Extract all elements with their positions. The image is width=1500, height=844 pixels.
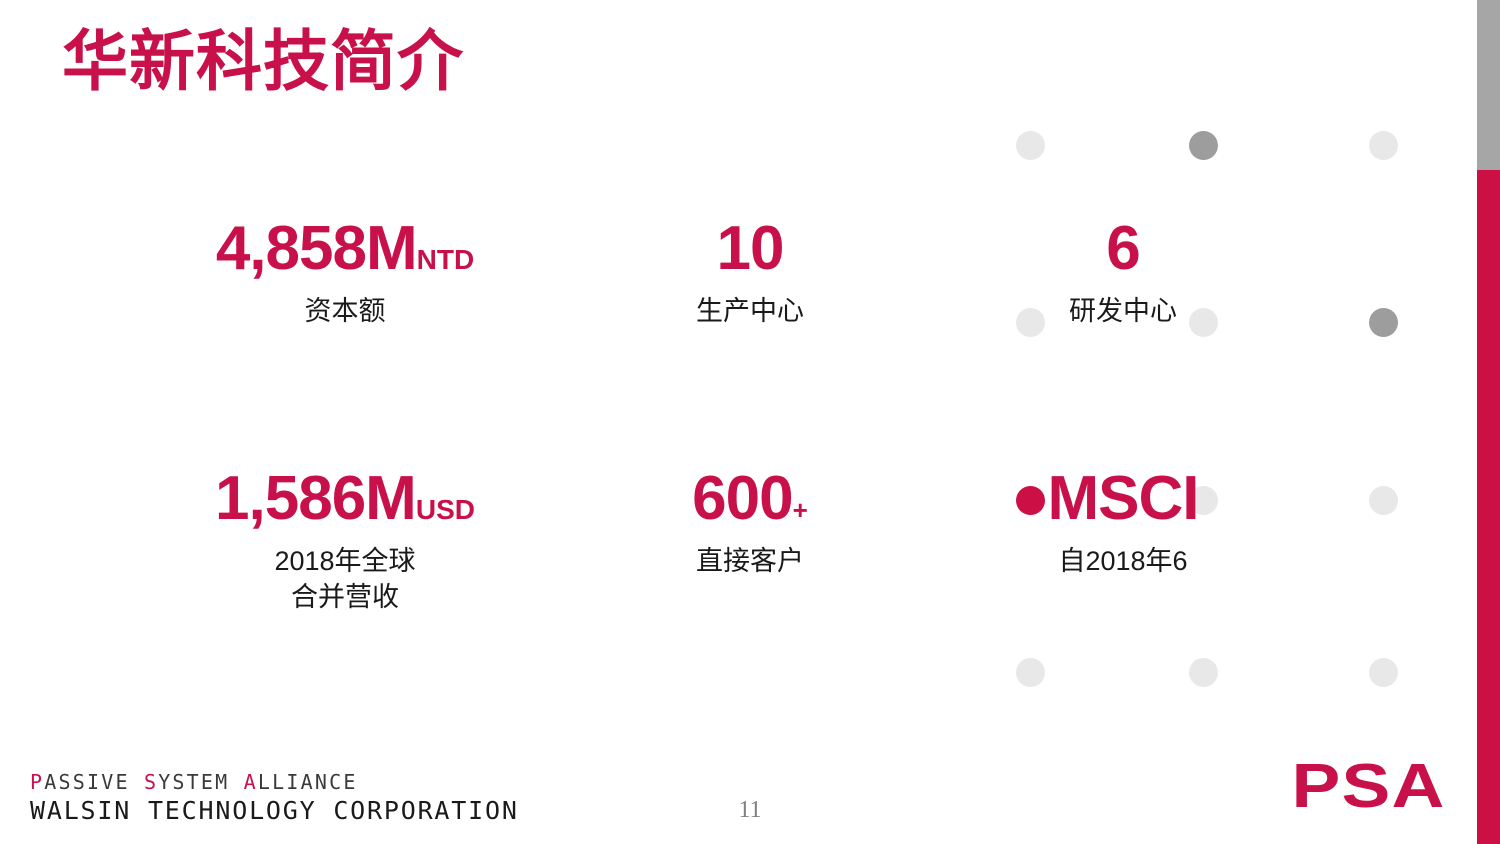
- stat-rd-value-line: 6: [958, 218, 1288, 280]
- footer-alliance-word: YSTEM: [158, 770, 243, 794]
- dot-r1-c3: [1369, 131, 1398, 160]
- stat-capital-label: 资本额: [180, 294, 510, 330]
- stat-capital-value: 4,858M: [216, 214, 417, 283]
- edge-bar-crimson: [1477, 170, 1500, 844]
- psa-logo: PSA: [1291, 756, 1445, 818]
- dot-r1-c1: [1016, 131, 1045, 160]
- msci-wordmark: MSCI: [1048, 464, 1199, 533]
- footer-alliance-initial: P: [30, 770, 44, 794]
- stat-direct-customers: 600+ 直接客户: [585, 468, 915, 580]
- page-title: 华新科技简介: [62, 24, 464, 100]
- stat-rd-value: 6: [1106, 214, 1139, 283]
- stat-capital: 4,858MNTD 资本额: [180, 218, 510, 330]
- dot-r1-c2: [1189, 131, 1218, 160]
- footer-alliance-line: PASSIVE SYSTEM ALLIANCE: [30, 770, 519, 795]
- stat-rd-centers: 6 研发中心: [958, 218, 1288, 330]
- stat-global-revenue: 1,586MUSD 2018年全球 合并营收: [180, 468, 510, 615]
- slide-canvas: 华新科技简介 4,858MNTD 资本额 10 生产中心 6 研发中心 1,58…: [0, 0, 1500, 844]
- stat-plants-value-line: 10: [585, 218, 915, 280]
- dot-r4-c1: [1016, 658, 1045, 687]
- stat-production-centers: 10 生产中心: [585, 218, 915, 330]
- stat-plants-value: 10: [717, 214, 784, 283]
- stat-revenue-value: 1,586M: [215, 464, 416, 533]
- stat-revenue-unit: USD: [416, 494, 475, 525]
- stat-customers-value: 600: [692, 464, 792, 533]
- stat-capital-unit: NTD: [417, 244, 475, 275]
- footer-alliance-initial: S: [144, 770, 158, 794]
- edge-bar-gray: [1477, 0, 1500, 170]
- stat-revenue-value-line: 1,586MUSD: [180, 468, 510, 530]
- stat-customers-suffix: +: [793, 495, 808, 525]
- stat-rd-label: 研发中心: [958, 294, 1288, 330]
- dot-r4-c3: [1369, 658, 1398, 687]
- stat-msci-label: 自2018年6: [958, 544, 1288, 580]
- footer-alliance-word: ASSIVE: [44, 770, 144, 794]
- stat-msci-index: MSCI 自2018年6: [958, 468, 1288, 580]
- page-number: 11: [0, 797, 1500, 824]
- dot-r4-c2: [1189, 658, 1218, 687]
- stats-grid: 4,858MNTD 资本额 10 生产中心 6 研发中心 1,586MUSD 2…: [0, 196, 1440, 656]
- stat-customers-label: 直接客户: [585, 544, 915, 580]
- stat-capital-value-line: 4,858MNTD: [180, 218, 510, 280]
- stat-msci-value-line: MSCI: [958, 468, 1288, 530]
- footer-alliance-word: LLIANCE: [258, 770, 358, 794]
- stat-plants-label: 生产中心: [585, 294, 915, 330]
- stat-revenue-label: 2018年全球 合并营收: [180, 544, 510, 615]
- stat-customers-value-line: 600+: [585, 468, 915, 530]
- footer-alliance-initial: A: [244, 770, 258, 794]
